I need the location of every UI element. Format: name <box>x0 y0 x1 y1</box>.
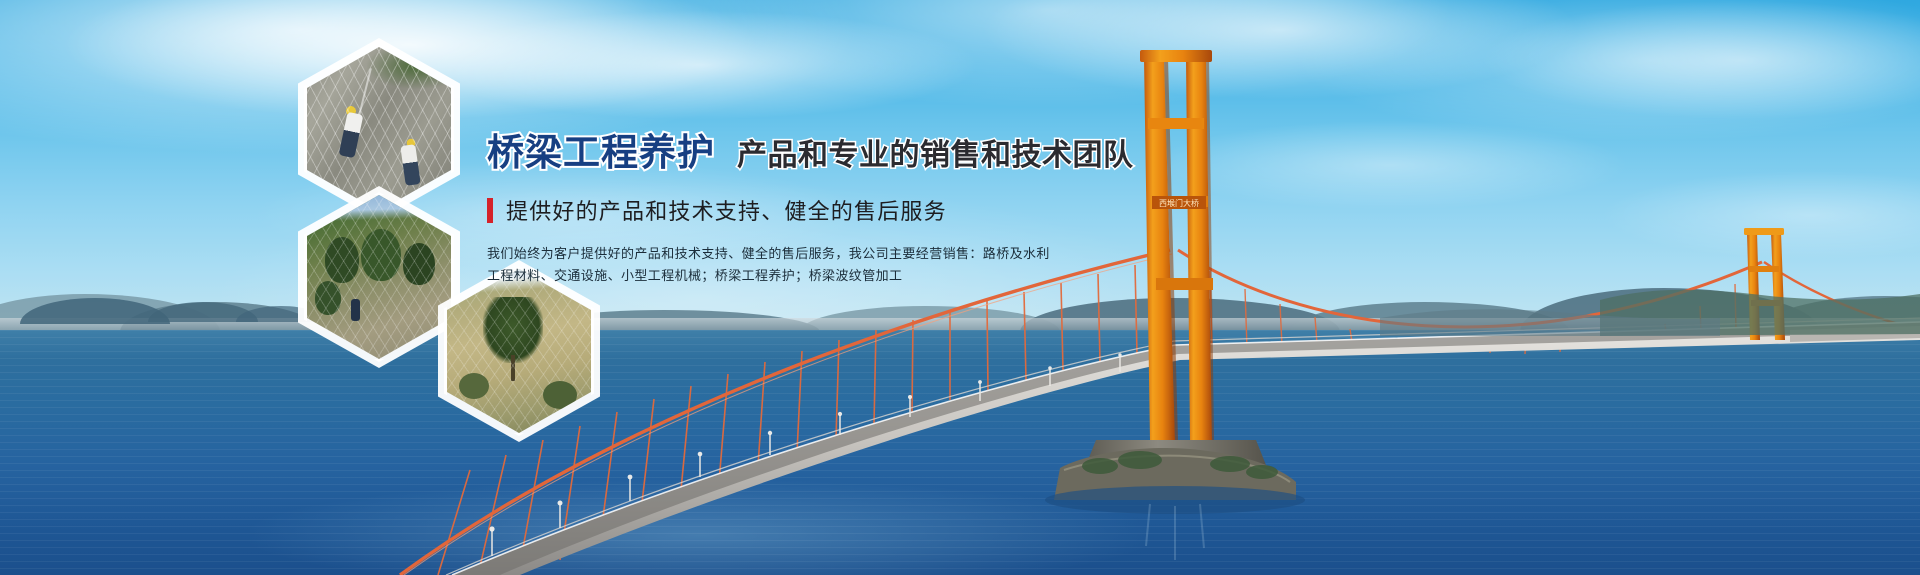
headline: 桥梁工程养护 产品和专业的销售和技术团队 <box>487 122 1387 176</box>
bush <box>459 373 489 399</box>
description-line-1: 我们始终为客户提供好的产品和技术支持、健全的售后服务，我公司主要经营销售：路桥及… <box>487 244 1387 266</box>
hero-banner: 西堠门大桥 <box>0 0 1920 575</box>
headline-primary: 桥梁工程养护 <box>487 122 715 176</box>
description: 我们始终为客户提供好的产品和技术支持、健全的售后服务，我公司主要经营销售：路桥及… <box>487 244 1387 289</box>
tagline: 提供好的产品和技术支持、健全的售后服务 <box>487 194 1387 226</box>
worker-figure <box>351 299 360 321</box>
accent-bar <box>487 198 493 223</box>
description-line-2: 工程材料、交通设施、小型工程机械；桥梁工程养护；桥梁波纹管加工 <box>487 266 1387 288</box>
banner-copy: 桥梁工程养护 产品和专业的销售和技术团队 提供好的产品和技术支持、健全的售后服务… <box>487 122 1387 289</box>
bush <box>543 381 577 409</box>
tagline-text: 提供好的产品和技术支持、健全的售后服务 <box>506 194 947 226</box>
headline-secondary: 产品和专业的销售和技术团队 <box>737 130 1134 174</box>
